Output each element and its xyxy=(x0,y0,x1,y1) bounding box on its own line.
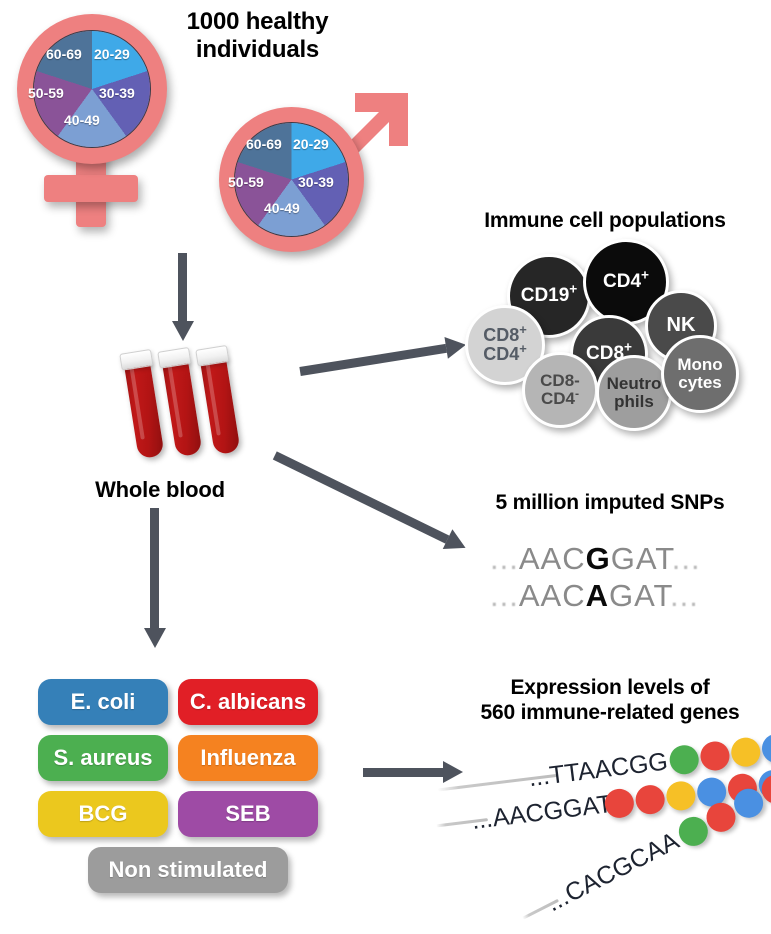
dna-nucleotide-dot xyxy=(634,783,666,815)
stimulation-box-label: Non stimulated xyxy=(109,857,268,883)
pie-label-20-29: 20-29 xyxy=(94,46,130,62)
arrow-head xyxy=(172,321,194,341)
immune-cell-label: CD8+CD4+ xyxy=(483,326,527,364)
stimulation-box-non-stimulated[interactable]: Non stimulated xyxy=(88,847,288,893)
snp-suffix: ... xyxy=(672,541,701,576)
snp-prefix: ... xyxy=(490,578,519,613)
arrow-shaft xyxy=(299,343,447,375)
stimulation-box-s-aureus[interactable]: S. aureus xyxy=(38,735,168,781)
immune-cell-label: Neutrophils xyxy=(607,375,662,411)
cohort-title: 1000 healthy individuals xyxy=(175,8,340,65)
stimulation-box-bcg[interactable]: BCG xyxy=(38,791,168,837)
pie-label-30-39: 30-39 xyxy=(99,85,135,101)
dna-strand-sequence: ...AACGGAT xyxy=(470,790,614,836)
expression-title: Expression levels of 560 immune-related … xyxy=(455,676,765,726)
immune-cell-label: NK xyxy=(667,315,696,336)
snp-post-bases: GAT xyxy=(611,541,672,576)
arrow-cohort-to-blood xyxy=(182,253,183,254)
pie-label-20-29: 20-29 xyxy=(293,136,329,152)
arrow-blood-to-snps xyxy=(275,455,276,456)
arrow-shaft xyxy=(151,508,160,628)
snp-title: 5 million imputed SNPs xyxy=(455,491,765,516)
expression-title-line1: Expression levels of xyxy=(455,676,765,701)
dna-nucleotide-dot xyxy=(760,732,771,764)
dna-nucleotide-dot xyxy=(699,740,731,772)
figure-canvas: 1000 healthy individuals 20-29 30-39 40-… xyxy=(0,0,771,922)
pie-label-40-49: 40-49 xyxy=(64,112,100,128)
snp-variant-base: A xyxy=(586,578,609,613)
arrow-stimulation-to-expression xyxy=(363,772,364,773)
female-symbol-crossbar xyxy=(44,175,138,202)
dna-nucleotide-dot xyxy=(668,744,700,776)
snp-post-bases: GAT xyxy=(609,578,670,613)
arrow-shaft xyxy=(273,451,450,543)
snp-sequence-row: ...AACGGAT... xyxy=(490,541,701,577)
stimulation-box-influenza[interactable]: Influenza xyxy=(178,735,318,781)
pie-label-50-59: 50-59 xyxy=(228,174,264,190)
snp-variant-base: G xyxy=(586,541,611,576)
immune-cell-label: CD4+ xyxy=(603,272,649,292)
stimulation-box-c-albicans[interactable]: C. albicans xyxy=(178,679,318,725)
stimulation-box-e-coli[interactable]: E. coli xyxy=(38,679,168,725)
dna-nucleotide-dot xyxy=(665,780,697,812)
immune-cell-populations-title: Immune cell populations xyxy=(445,209,765,234)
dna-strand-sequence: ...CACGCAA xyxy=(542,827,684,918)
stimulation-box-label: S. aureus xyxy=(53,745,152,771)
immune-cell-label: Monocytes xyxy=(677,356,722,392)
pie-label-50-59: 50-59 xyxy=(28,85,64,101)
cohort-title-line1: 1000 healthy xyxy=(175,8,340,36)
snp-pre-bases: AAC xyxy=(519,541,586,576)
snp-sequence-row: ...AACAGAT... xyxy=(490,578,699,614)
stimulation-box-label: C. albicans xyxy=(190,689,306,715)
stimulation-box-label: SEB xyxy=(225,801,270,827)
male-gender-symbol: 20-29 30-39 40-49 50-59 60-69 xyxy=(203,60,418,250)
immune-cell-cd8: CD8-CD4- xyxy=(522,352,598,428)
snp-prefix: ... xyxy=(490,541,519,576)
immune-cell-label: CD8-CD4- xyxy=(540,372,580,408)
arrow-blood-to-stimulation xyxy=(154,508,155,509)
blood-tubes-group xyxy=(112,345,252,470)
arrow-head xyxy=(443,761,463,783)
stimulation-box-seb[interactable]: SEB xyxy=(178,791,318,837)
snp-pre-bases: AAC xyxy=(519,578,586,613)
stimulation-box-label: E. coli xyxy=(71,689,136,715)
whole-blood-label: Whole blood xyxy=(60,477,260,503)
pie-label-60-69: 60-69 xyxy=(246,136,282,152)
arrow-shaft xyxy=(363,768,443,777)
immune-cell-label: CD19+ xyxy=(521,286,578,306)
arrow-blood-to-immune xyxy=(300,371,301,372)
arrow-shaft xyxy=(179,253,188,321)
snp-suffix: ... xyxy=(670,578,699,613)
stimulation-box-label: BCG xyxy=(79,801,128,827)
female-gender-symbol: 20-29 30-39 40-49 50-59 60-69 xyxy=(10,14,180,229)
expression-title-line2: 560 immune-related genes xyxy=(455,701,765,726)
stimulation-box-label: Influenza xyxy=(200,745,295,771)
arrow-head xyxy=(144,628,166,648)
pie-label-40-49: 40-49 xyxy=(264,200,300,216)
dna-nucleotide-dot xyxy=(730,736,762,768)
immune-cell-mono: Monocytes xyxy=(661,335,739,413)
pie-label-60-69: 60-69 xyxy=(46,46,82,62)
pie-label-30-39: 30-39 xyxy=(298,174,334,190)
